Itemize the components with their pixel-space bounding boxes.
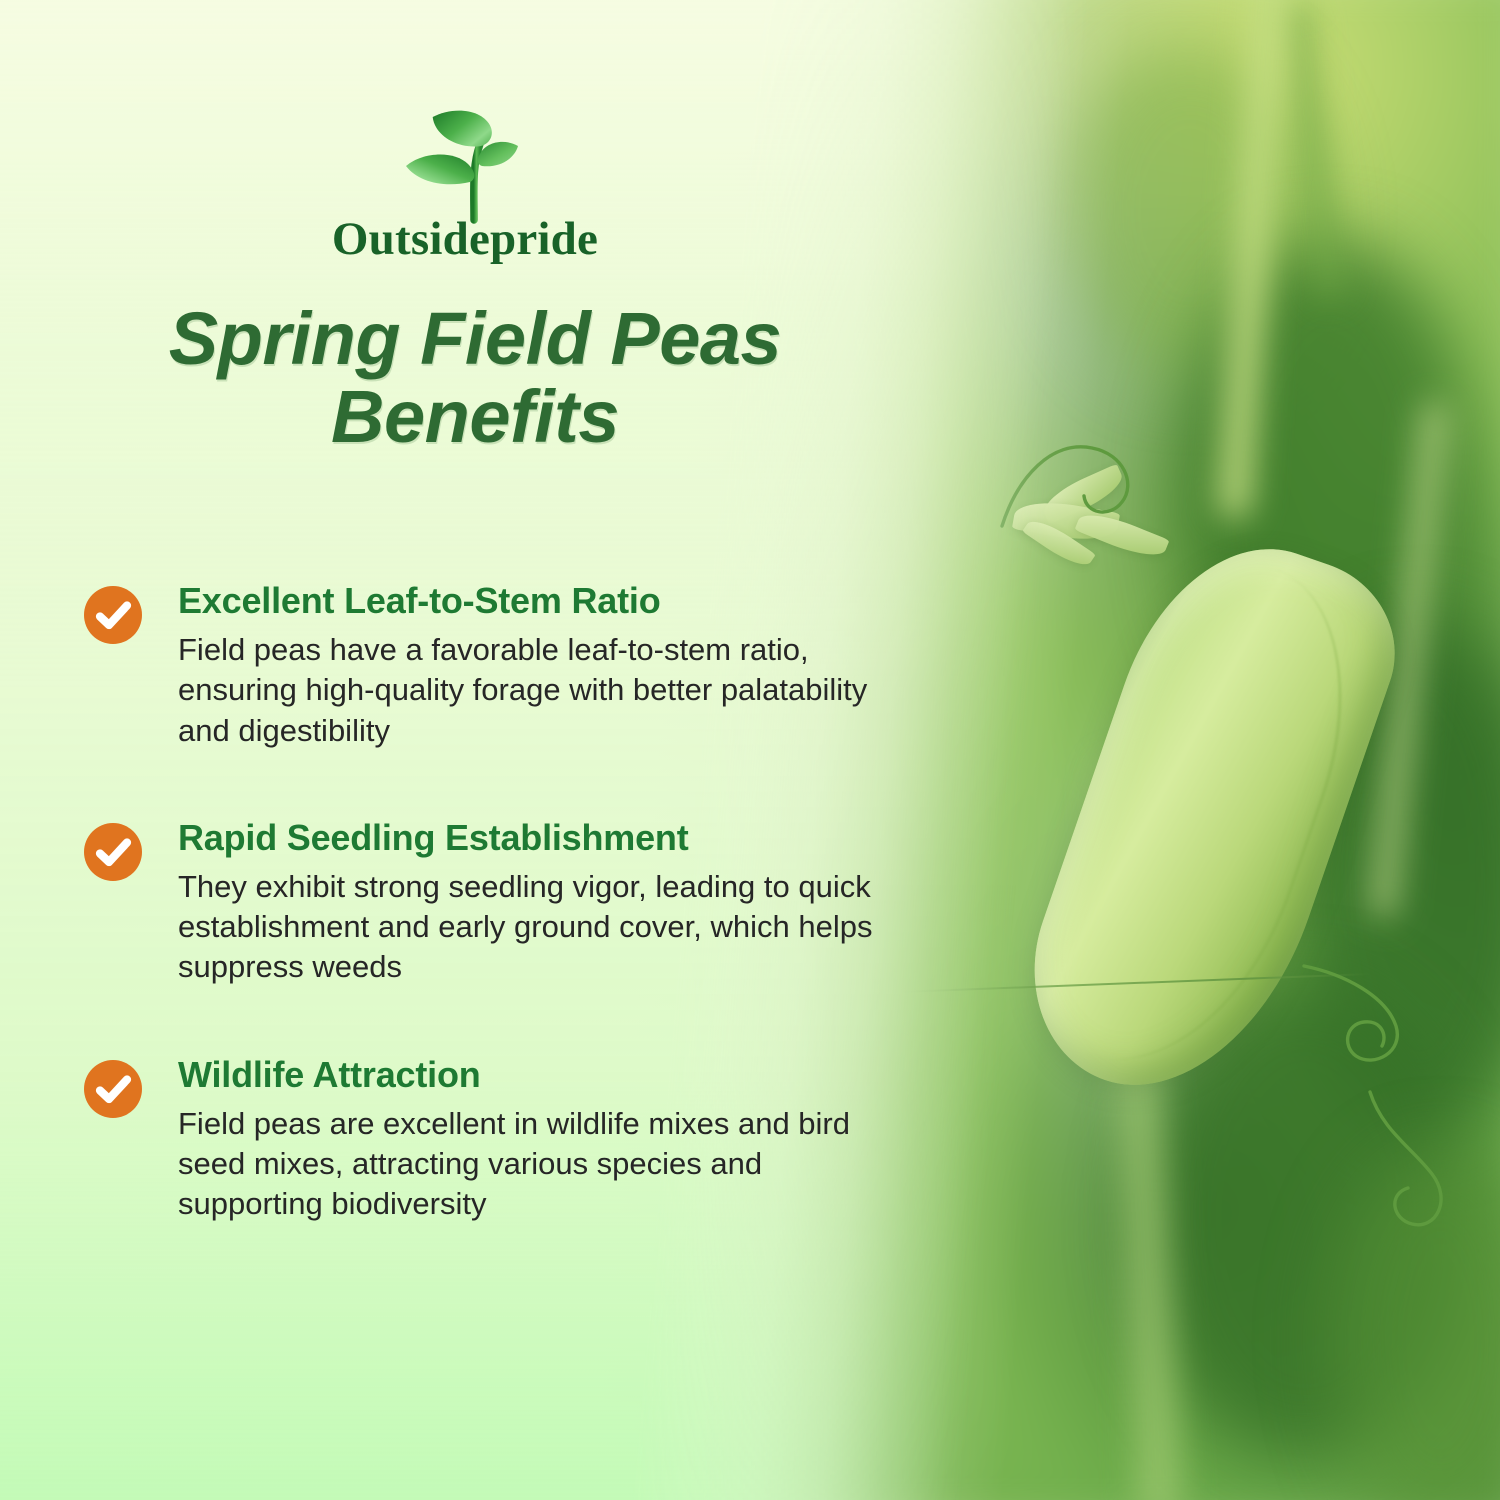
- benefit-item: Rapid Seedling Establishment They exhibi…: [84, 817, 914, 988]
- benefits-list: Excellent Leaf-to-Stem Ratio Field peas …: [84, 580, 914, 1225]
- benefit-title: Wildlife Attraction: [178, 1054, 914, 1096]
- content-area: Outsidepride Spring Field Peas Benefits …: [0, 0, 1500, 1500]
- benefit-item: Excellent Leaf-to-Stem Ratio Field peas …: [84, 580, 914, 751]
- benefit-description: Field peas have a favorable leaf-to-stem…: [178, 630, 914, 751]
- page-title-line-2: Benefits: [60, 378, 890, 456]
- brand-logo[interactable]: Outsidepride: [0, 104, 930, 266]
- infographic-canvas: Outsidepride Spring Field Peas Benefits …: [0, 0, 1500, 1500]
- benefit-item: Wildlife Attraction Field peas are excel…: [84, 1054, 914, 1225]
- benefit-title: Rapid Seedling Establishment: [178, 817, 914, 859]
- benefit-description: Field peas are excellent in wildlife mix…: [178, 1104, 914, 1225]
- brand-wordmark: Outsidepride: [0, 212, 930, 266]
- benefit-description: They exhibit strong seedling vigor, lead…: [178, 867, 914, 988]
- check-circle-icon: [84, 1060, 142, 1118]
- page-title: Spring Field Peas Benefits: [60, 300, 890, 457]
- benefit-title: Excellent Leaf-to-Stem Ratio: [178, 580, 914, 622]
- page-title-line-1: Spring Field Peas: [60, 300, 890, 378]
- seedling-leaf-icon: [390, 104, 540, 224]
- check-circle-icon: [84, 586, 142, 644]
- check-circle-icon: [84, 823, 142, 881]
